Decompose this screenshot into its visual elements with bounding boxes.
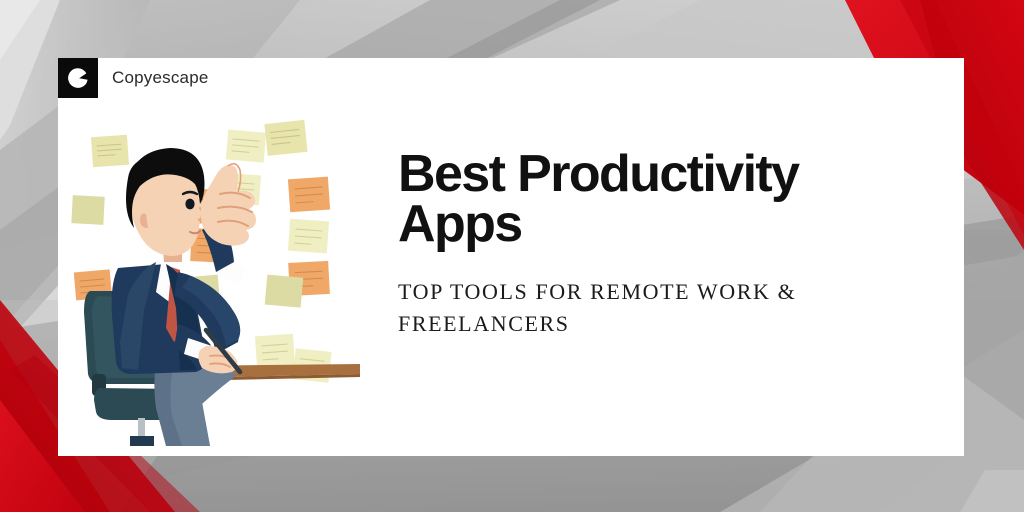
content-card: Copyescape bbox=[58, 58, 964, 456]
brand-logo[interactable]: Copyescape bbox=[58, 58, 209, 98]
brand-name: Copyescape bbox=[112, 68, 209, 88]
promo-banner: Copyescape bbox=[0, 0, 1024, 512]
headline-block: Best Productivity Apps Top Tools For Rem… bbox=[398, 150, 918, 340]
page-title: Best Productivity Apps bbox=[398, 150, 918, 250]
head bbox=[126, 148, 205, 262]
copyescape-c-mark-icon bbox=[58, 58, 98, 98]
illustration-man-at-desk-with-sticky-notes bbox=[70, 116, 390, 446]
page-subtitle: Top Tools For Remote Work & Freelancers bbox=[398, 276, 898, 340]
